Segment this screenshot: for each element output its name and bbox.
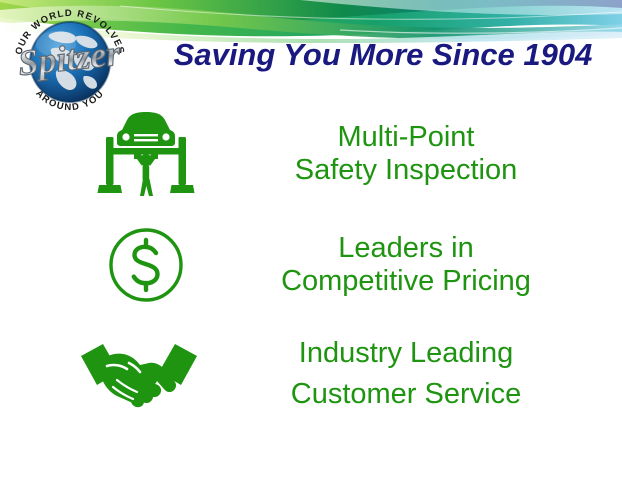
spitzer-globe-logo: OUR WORLD REVOLVES AROUND YOU Spitzer	[4, 4, 136, 116]
feature-line: Customer Service	[206, 374, 606, 415]
feature-line: Industry Leading	[206, 333, 606, 374]
feature-text-safety-inspection: Multi-Point Safety Inspection	[206, 121, 606, 187]
feature-line: Competitive Pricing	[206, 265, 606, 298]
handshake-icon	[72, 328, 206, 420]
car-lift-icon	[86, 108, 206, 200]
feature-text-customer-service: Industry Leading Customer Service	[206, 333, 606, 415]
feature-line: Leaders in	[206, 232, 606, 265]
page-title: Saving You More Since 1904	[150, 38, 616, 72]
promo-slide: OUR WORLD REVOLVES AROUND YOU Spitzer Sa…	[0, 0, 622, 483]
feature-row-safety-inspection: Multi-Point Safety Inspection	[86, 108, 606, 200]
dollar-circle-icon	[86, 222, 206, 308]
feature-row-customer-service: Industry Leading Customer Service	[72, 328, 606, 420]
feature-line: Multi-Point	[206, 121, 606, 154]
feature-line: Safety Inspection	[206, 154, 606, 187]
feature-row-competitive-pricing: Leaders in Competitive Pricing	[86, 222, 606, 308]
feature-text-competitive-pricing: Leaders in Competitive Pricing	[206, 232, 606, 298]
